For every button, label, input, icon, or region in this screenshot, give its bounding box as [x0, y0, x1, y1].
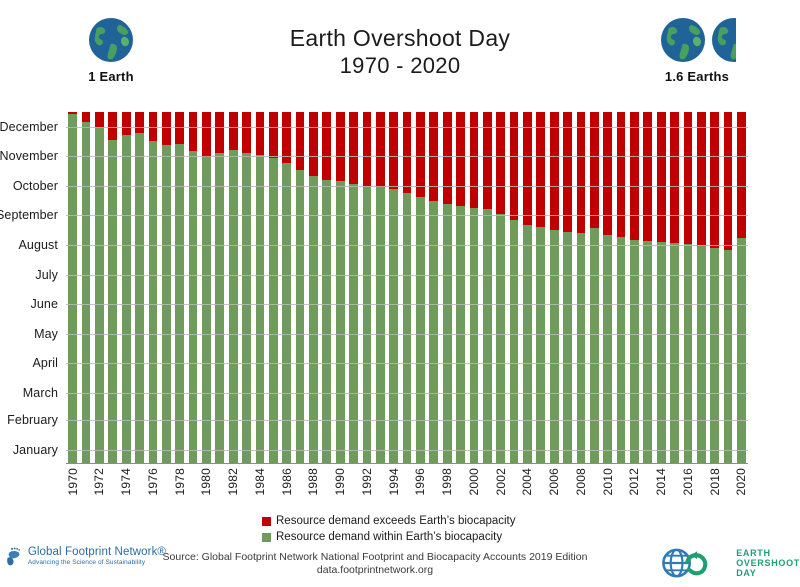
- stacked-bar[interactable]: [510, 112, 519, 464]
- bar-column[interactable]: [681, 112, 694, 464]
- bar-column[interactable]: [320, 112, 333, 464]
- bar-column[interactable]: [507, 112, 520, 464]
- bar-segment-overshoot[interactable]: [710, 112, 719, 248]
- one-earth-globes: [72, 14, 150, 66]
- bar-column[interactable]: [655, 112, 668, 464]
- earth-globe-icon: [87, 16, 135, 64]
- bar-segment-within-biocapacity[interactable]: [470, 208, 479, 464]
- x-axis-tick: 2010: [601, 466, 614, 512]
- stacked-bar[interactable]: [309, 112, 318, 464]
- x-axis-tick: [347, 466, 360, 512]
- globe-arrow-icon: [660, 546, 730, 580]
- stacked-bar[interactable]: [269, 112, 278, 464]
- x-axis-tick: [240, 466, 253, 512]
- stacked-bar[interactable]: [456, 112, 465, 464]
- x-axis-tick: [186, 466, 199, 512]
- bar-column[interactable]: [481, 112, 494, 464]
- bar-segment-within-biocapacity[interactable]: [550, 230, 559, 464]
- bar-segment-overshoot[interactable]: [322, 112, 331, 180]
- x-axis-tick: 1976: [146, 466, 159, 512]
- bar-segment-overshoot[interactable]: [162, 112, 171, 145]
- bar-segment-overshoot[interactable]: [563, 112, 572, 232]
- bar-segment-overshoot[interactable]: [336, 112, 345, 181]
- x-axis-label: 2004: [520, 468, 534, 496]
- bar-segment-within-biocapacity[interactable]: [309, 176, 318, 464]
- bar-segment-within-biocapacity[interactable]: [496, 214, 505, 464]
- x-axis-label: 1970: [66, 468, 80, 496]
- x-axis-tick: 2008: [574, 466, 587, 512]
- bar-segment-within-biocapacity[interactable]: [349, 184, 358, 464]
- bar-segment-within-biocapacity[interactable]: [215, 153, 224, 464]
- bar-segment-overshoot[interactable]: [510, 112, 519, 220]
- bar-segment-overshoot[interactable]: [657, 112, 666, 242]
- stacked-bar[interactable]: [189, 112, 198, 464]
- one-point-six-earths-label: 1.6 Earths: [637, 69, 757, 84]
- legend-label: Resource demand within Earth’s biocapaci…: [276, 530, 502, 544]
- bar-column[interactable]: [79, 112, 92, 464]
- stacked-bar[interactable]: [630, 112, 639, 464]
- bar-segment-within-biocapacity[interactable]: [175, 144, 184, 464]
- bar-column[interactable]: [721, 112, 734, 464]
- bar-column[interactable]: [253, 112, 266, 464]
- legend-item[interactable]: Resource demand within Earth’s biocapaci…: [262, 530, 562, 544]
- bar-segment-overshoot[interactable]: [296, 112, 305, 170]
- bar-segment-within-biocapacity[interactable]: [563, 232, 572, 464]
- bar-column[interactable]: [400, 112, 413, 464]
- bar-column[interactable]: [374, 112, 387, 464]
- bar-segment-within-biocapacity[interactable]: [122, 135, 131, 464]
- bar-segment-within-biocapacity[interactable]: [429, 201, 438, 464]
- bar-column[interactable]: [574, 112, 587, 464]
- bar-segment-within-biocapacity[interactable]: [82, 122, 91, 464]
- bar-segment-within-biocapacity[interactable]: [710, 248, 719, 464]
- bar-segment-within-biocapacity[interactable]: [336, 181, 345, 464]
- bar-segment-within-biocapacity[interactable]: [590, 228, 599, 464]
- bar-segment-within-biocapacity[interactable]: [443, 204, 452, 464]
- gfn-name: Global Footprint Network®: [28, 546, 166, 558]
- x-axis-tick: 2014: [655, 466, 668, 512]
- y-axis-label: February: [7, 413, 58, 427]
- x-axis-tick: [507, 466, 520, 512]
- x-axis-tick: [588, 466, 601, 512]
- bar-segment-overshoot[interactable]: [215, 112, 224, 153]
- bar-segment-within-biocapacity[interactable]: [95, 128, 104, 464]
- bar-segment-within-biocapacity[interactable]: [697, 246, 706, 464]
- eod-line-2: OVERSHOOT: [736, 558, 800, 568]
- bar-segment-overshoot[interactable]: [577, 112, 586, 233]
- bar-segment-overshoot[interactable]: [483, 112, 492, 209]
- stacked-bar[interactable]: [322, 112, 331, 464]
- stacked-bar[interactable]: [416, 112, 425, 464]
- stacked-bar[interactable]: [349, 112, 358, 464]
- bar-segment-overshoot[interactable]: [242, 112, 251, 153]
- bar-column[interactable]: [695, 112, 708, 464]
- x-axis-tick: [454, 466, 467, 512]
- x-axis-label: 2016: [681, 468, 695, 496]
- bar-segment-overshoot[interactable]: [456, 112, 465, 206]
- x-axis-tick: 1972: [93, 466, 106, 512]
- x-axis-tick: 2006: [548, 466, 561, 512]
- bar-segment-overshoot[interactable]: [389, 112, 398, 189]
- bar-segment-within-biocapacity[interactable]: [242, 153, 251, 464]
- bar-segment-overshoot[interactable]: [617, 112, 626, 237]
- bar-segment-within-biocapacity[interactable]: [269, 158, 278, 464]
- stacked-bar[interactable]: [483, 112, 492, 464]
- x-axis-tick: 1986: [280, 466, 293, 512]
- stacked-bar[interactable]: [617, 112, 626, 464]
- bar-column[interactable]: [280, 112, 293, 464]
- x-axis-label: 1976: [146, 468, 160, 496]
- stacked-bar[interactable]: [603, 112, 612, 464]
- x-axis-tick: 2020: [735, 466, 748, 512]
- bar-column[interactable]: [146, 112, 159, 464]
- bar-column[interactable]: [561, 112, 574, 464]
- bar-column[interactable]: [133, 112, 146, 464]
- bar-segment-overshoot[interactable]: [149, 112, 158, 141]
- bar-segment-overshoot[interactable]: [282, 112, 291, 163]
- legend-swatch-within: [262, 533, 271, 542]
- bar-segment-overshoot[interactable]: [550, 112, 559, 230]
- bar-segment-overshoot[interactable]: [603, 112, 612, 235]
- x-axis-tick: 2018: [708, 466, 721, 512]
- x-axis-tick: 2012: [628, 466, 641, 512]
- bar-segment-within-biocapacity[interactable]: [456, 206, 465, 464]
- bar-column[interactable]: [120, 112, 133, 464]
- gfn-logo-text: Global Footprint Network® Advancing the …: [28, 546, 166, 566]
- bar-segment-within-biocapacity[interactable]: [684, 244, 693, 464]
- source-line-2: data.footprintnetwork.org: [150, 564, 600, 577]
- bar-segment-overshoot[interactable]: [496, 112, 505, 214]
- title-line-1: Earth Overshoot Day: [250, 24, 550, 52]
- bar-segment-within-biocapacity[interactable]: [724, 250, 733, 464]
- stacked-bar[interactable]: [443, 112, 452, 464]
- bar-column[interactable]: [494, 112, 507, 464]
- x-axis-tick: 1990: [334, 466, 347, 512]
- y-axis-label: December: [0, 120, 58, 134]
- bar-column[interactable]: [414, 112, 427, 464]
- bar-segment-overshoot[interactable]: [108, 112, 117, 140]
- bar-column[interactable]: [93, 112, 106, 464]
- bar-segment-within-biocapacity[interactable]: [536, 227, 545, 464]
- stacked-bar[interactable]: [684, 112, 693, 464]
- bar-segment-within-biocapacity[interactable]: [256, 155, 265, 464]
- poster-header: 1 Earth Earth Overshoot Day 1970 - 2020: [0, 0, 800, 100]
- x-axis-tick: 1974: [120, 466, 133, 512]
- bar-segment-overshoot[interactable]: [229, 112, 238, 150]
- poster-root: 1 Earth Earth Overshoot Day 1970 - 2020: [0, 0, 800, 587]
- bar-column[interactable]: [200, 112, 213, 464]
- x-axis-label: 1994: [387, 468, 401, 496]
- x-axis-label: 1992: [360, 468, 374, 496]
- stacked-bar[interactable]: [215, 112, 224, 464]
- chart-bars: [66, 112, 748, 464]
- y-axis-label: May: [34, 327, 58, 341]
- bar-segment-within-biocapacity[interactable]: [135, 133, 144, 464]
- bar-segment-overshoot[interactable]: [269, 112, 278, 158]
- stacked-bar[interactable]: [670, 112, 679, 464]
- bar-column[interactable]: [173, 112, 186, 464]
- bar-segment-overshoot[interactable]: [429, 112, 438, 201]
- bar-column[interactable]: [467, 112, 480, 464]
- x-axis-tick: 1994: [387, 466, 400, 512]
- stacked-bar[interactable]: [202, 112, 211, 464]
- bar-segment-overshoot[interactable]: [470, 112, 479, 208]
- bar-column[interactable]: [708, 112, 721, 464]
- x-axis-tick: [267, 466, 280, 512]
- bar-segment-within-biocapacity[interactable]: [202, 157, 211, 464]
- x-axis-label: 1996: [413, 468, 427, 496]
- bar-segment-overshoot[interactable]: [376, 112, 385, 187]
- stacked-bar[interactable]: [710, 112, 719, 464]
- x-axis-label: 1984: [253, 468, 267, 496]
- bar-segment-overshoot[interactable]: [189, 112, 198, 151]
- bar-column[interactable]: [454, 112, 467, 464]
- legend-label: Resource demand exceeds Earth’s biocapac…: [276, 514, 516, 528]
- eod-line-1: EARTH: [736, 548, 800, 558]
- bar-segment-overshoot[interactable]: [670, 112, 679, 243]
- x-axis-tick: [721, 466, 734, 512]
- bar-column[interactable]: [307, 112, 320, 464]
- x-axis-label: 2006: [547, 468, 561, 496]
- bar-segment-within-biocapacity[interactable]: [657, 242, 666, 464]
- bar-column[interactable]: [548, 112, 561, 464]
- x-axis-label: 2020: [734, 468, 748, 496]
- stacked-bar[interactable]: [470, 112, 479, 464]
- stacked-bar[interactable]: [135, 112, 144, 464]
- stacked-bar[interactable]: [108, 112, 117, 464]
- stacked-bar[interactable]: [256, 112, 265, 464]
- bar-segment-overshoot[interactable]: [309, 112, 318, 176]
- x-axis-label: 2012: [627, 468, 641, 496]
- legend-item[interactable]: Resource demand exceeds Earth’s biocapac…: [262, 514, 562, 528]
- stacked-bar[interactable]: [643, 112, 652, 464]
- bar-column[interactable]: [360, 112, 373, 464]
- bar-segment-within-biocapacity[interactable]: [68, 114, 77, 464]
- y-axis-label: January: [13, 443, 58, 457]
- y-axis: JanuaryFebruaryMarchAprilMayJuneJulyAugu…: [0, 112, 64, 464]
- x-axis-label: 2008: [574, 468, 588, 496]
- x-axis-tick: [614, 466, 627, 512]
- bar-segment-overshoot[interactable]: [122, 112, 131, 135]
- stacked-bar[interactable]: [577, 112, 586, 464]
- bar-segment-overshoot[interactable]: [175, 112, 184, 144]
- one-point-six-earths-group: 1.6 Earths: [637, 14, 757, 84]
- stacked-bar[interactable]: [149, 112, 158, 464]
- bar-column[interactable]: [240, 112, 253, 464]
- bar-segment-within-biocapacity[interactable]: [577, 233, 586, 464]
- stacked-bar[interactable]: [336, 112, 345, 464]
- x-axis-tick: [106, 466, 119, 512]
- stacked-bar[interactable]: [563, 112, 572, 464]
- bar-column[interactable]: [588, 112, 601, 464]
- bar-segment-overshoot[interactable]: [82, 112, 91, 122]
- x-axis-tick: [481, 466, 494, 512]
- bar-column[interactable]: [106, 112, 119, 464]
- bar-segment-within-biocapacity[interactable]: [416, 197, 425, 464]
- bar-column[interactable]: [213, 112, 226, 464]
- earth-globe-partial-icon: [710, 16, 736, 64]
- bar-segment-within-biocapacity[interactable]: [389, 189, 398, 464]
- stacked-bar[interactable]: [389, 112, 398, 464]
- x-axis-tick: [561, 466, 574, 512]
- bar-column[interactable]: [614, 112, 627, 464]
- bar-column[interactable]: [293, 112, 306, 464]
- stacked-bar[interactable]: [229, 112, 238, 464]
- bar-segment-overshoot[interactable]: [590, 112, 599, 228]
- bar-segment-within-biocapacity[interactable]: [630, 240, 639, 464]
- bar-column[interactable]: [641, 112, 654, 464]
- stacked-bar[interactable]: [82, 112, 91, 464]
- stacked-bar[interactable]: [175, 112, 184, 464]
- bar-column[interactable]: [735, 112, 748, 464]
- stacked-bar[interactable]: [296, 112, 305, 464]
- stacked-bar[interactable]: [657, 112, 666, 464]
- x-axis-label: 1980: [199, 468, 213, 496]
- y-axis-label: August: [18, 238, 58, 252]
- bar-segment-within-biocapacity[interactable]: [643, 241, 652, 464]
- bar-segment-overshoot[interactable]: [443, 112, 452, 204]
- bar-column[interactable]: [66, 112, 79, 464]
- earth-globe-icon: [659, 16, 707, 64]
- x-axis-tick: 1980: [200, 466, 213, 512]
- stacked-bar[interactable]: [523, 112, 532, 464]
- x-axis-tick: 1998: [441, 466, 454, 512]
- stacked-bar[interactable]: [376, 112, 385, 464]
- footprint-icon: [6, 533, 24, 579]
- x-axis-label: 1982: [226, 468, 240, 496]
- bar-column[interactable]: [347, 112, 360, 464]
- bar-segment-within-biocapacity[interactable]: [296, 170, 305, 464]
- bar-column[interactable]: [628, 112, 641, 464]
- bar-segment-within-biocapacity[interactable]: [603, 235, 612, 464]
- x-axis-tick: [213, 466, 226, 512]
- y-axis-label: July: [35, 268, 58, 282]
- bar-segment-overshoot[interactable]: [202, 112, 211, 157]
- bar-segment-within-biocapacity[interactable]: [162, 145, 171, 464]
- bar-column[interactable]: [668, 112, 681, 464]
- x-axis-label: 1998: [440, 468, 454, 496]
- bar-segment-overshoot[interactable]: [737, 112, 746, 238]
- x-axis-tick: [427, 466, 440, 512]
- x-axis-tick: [668, 466, 681, 512]
- eod-line-3: DAY: [736, 568, 800, 578]
- bar-segment-within-biocapacity[interactable]: [483, 209, 492, 464]
- bar-segment-within-biocapacity[interactable]: [737, 238, 746, 464]
- x-axis-label: 2014: [654, 468, 668, 496]
- stacked-bar[interactable]: [122, 112, 131, 464]
- bar-segment-overshoot[interactable]: [724, 112, 733, 250]
- bar-segment-within-biocapacity[interactable]: [149, 141, 158, 464]
- bar-column[interactable]: [387, 112, 400, 464]
- bar-segment-within-biocapacity[interactable]: [282, 163, 291, 464]
- stacked-bar[interactable]: [95, 112, 104, 464]
- bar-segment-overshoot[interactable]: [684, 112, 693, 244]
- bar-segment-within-biocapacity[interactable]: [617, 237, 626, 464]
- bar-segment-within-biocapacity[interactable]: [510, 220, 519, 464]
- stacked-bar[interactable]: [590, 112, 599, 464]
- bar-segment-within-biocapacity[interactable]: [376, 187, 385, 464]
- bar-segment-within-biocapacity[interactable]: [403, 193, 412, 464]
- bar-column[interactable]: [160, 112, 173, 464]
- bar-segment-overshoot[interactable]: [416, 112, 425, 197]
- bar-column[interactable]: [227, 112, 240, 464]
- stacked-bar[interactable]: [496, 112, 505, 464]
- bar-segment-overshoot[interactable]: [523, 112, 532, 225]
- x-axis-tick: 1984: [253, 466, 266, 512]
- stacked-bar[interactable]: [363, 112, 372, 464]
- stacked-bar[interactable]: [737, 112, 746, 464]
- bar-segment-within-biocapacity[interactable]: [189, 151, 198, 464]
- bar-column[interactable]: [534, 112, 547, 464]
- stacked-bar[interactable]: [550, 112, 559, 464]
- x-axis-label: 1990: [333, 468, 347, 496]
- stacked-bar[interactable]: [242, 112, 251, 464]
- bar-segment-within-biocapacity[interactable]: [108, 140, 117, 464]
- x-axis-label: 2010: [601, 468, 615, 496]
- x-axis-label: 1988: [306, 468, 320, 496]
- x-axis-label: 2000: [467, 468, 481, 496]
- bar-column[interactable]: [427, 112, 440, 464]
- stacked-bar[interactable]: [697, 112, 706, 464]
- bar-segment-overshoot[interactable]: [536, 112, 545, 227]
- bar-segment-overshoot[interactable]: [363, 112, 372, 186]
- x-axis-tick: [400, 466, 413, 512]
- one-earth-label: 1 Earth: [72, 69, 150, 84]
- x-axis-tick: 1978: [173, 466, 186, 512]
- bar-segment-within-biocapacity[interactable]: [322, 180, 331, 464]
- bar-segment-overshoot[interactable]: [95, 112, 104, 128]
- x-axis-tick: 1992: [360, 466, 373, 512]
- stacked-bar[interactable]: [403, 112, 412, 464]
- bar-segment-overshoot[interactable]: [630, 112, 639, 240]
- bar-column[interactable]: [521, 112, 534, 464]
- bar-segment-within-biocapacity[interactable]: [229, 150, 238, 464]
- stacked-bar[interactable]: [162, 112, 171, 464]
- bar-column[interactable]: [334, 112, 347, 464]
- bar-segment-within-biocapacity[interactable]: [363, 186, 372, 464]
- eod-logo-text: EARTH OVERSHOOT DAY: [736, 548, 800, 578]
- source-line-1: Source: Global Footprint Network Nationa…: [150, 551, 600, 564]
- x-axis-label: 1974: [119, 468, 133, 496]
- stacked-bar[interactable]: [282, 112, 291, 464]
- x-axis: 1970197219741976197819801982198419861988…: [66, 466, 748, 512]
- bar-column[interactable]: [601, 112, 614, 464]
- bar-segment-overshoot[interactable]: [697, 112, 706, 246]
- x-axis-tick: 1988: [307, 466, 320, 512]
- stacked-bar[interactable]: [536, 112, 545, 464]
- x-axis-tick: [695, 466, 708, 512]
- bar-segment-overshoot[interactable]: [256, 112, 265, 155]
- stacked-bar[interactable]: [68, 112, 77, 464]
- bar-column[interactable]: [186, 112, 199, 464]
- x-axis-tick: 2002: [494, 466, 507, 512]
- bar-column[interactable]: [267, 112, 280, 464]
- bar-segment-overshoot[interactable]: [135, 112, 144, 133]
- bar-segment-within-biocapacity[interactable]: [523, 225, 532, 464]
- bar-segment-overshoot[interactable]: [643, 112, 652, 241]
- chart-legend: Resource demand exceeds Earth’s biocapac…: [262, 514, 562, 546]
- bar-column[interactable]: [441, 112, 454, 464]
- one-point-six-earths-globes: [637, 14, 757, 66]
- stacked-bar[interactable]: [429, 112, 438, 464]
- x-axis-tick: 2004: [521, 466, 534, 512]
- bar-segment-within-biocapacity[interactable]: [670, 243, 679, 464]
- bar-segment-overshoot[interactable]: [349, 112, 358, 184]
- global-footprint-network-logo: Global Footprint Network® Advancing the …: [6, 530, 166, 582]
- stacked-bar[interactable]: [724, 112, 733, 464]
- bar-segment-overshoot[interactable]: [403, 112, 412, 193]
- x-axis-label: 1986: [280, 468, 294, 496]
